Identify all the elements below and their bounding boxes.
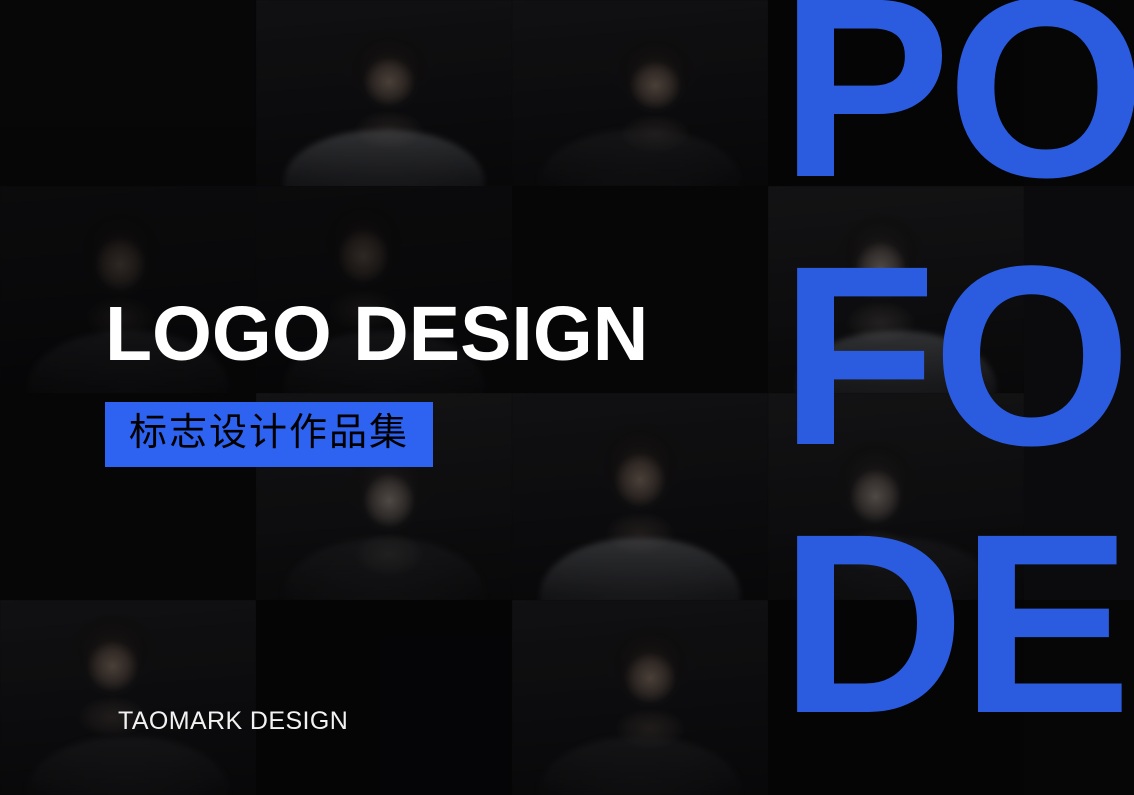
portrait-r4c5 xyxy=(1024,600,1134,795)
portrait-r4c1 xyxy=(0,600,256,795)
portrait-r1c1 xyxy=(0,0,256,186)
subtitle-badge: 标志设计作品集 xyxy=(105,402,433,467)
portrait-r4c4 xyxy=(768,600,1024,795)
portrait-r1c4 xyxy=(768,0,1024,186)
headline-block: LOGO DESIGN 标志设计作品集 xyxy=(105,296,725,467)
portrait-r3c4 xyxy=(768,393,1024,600)
brand-name: TAOMARK DESIGN xyxy=(118,707,348,736)
portrait-r2c5 xyxy=(1024,186,1134,393)
portrait-r3c5 xyxy=(1024,393,1134,600)
portrait-r1c3 xyxy=(512,0,768,186)
portrait-r4c3 xyxy=(512,600,768,795)
portrait-r1c5 xyxy=(1024,0,1134,186)
page-title: LOGO DESIGN xyxy=(105,296,725,373)
portrait-r4c2 xyxy=(256,600,512,795)
portfolio-cover-slide: PO FO DE LOGO DESIGN 标志设计作品集 TAOMARK DES… xyxy=(0,0,1134,795)
portrait-r1c2 xyxy=(256,0,512,186)
portrait-r2c4 xyxy=(768,186,1024,393)
